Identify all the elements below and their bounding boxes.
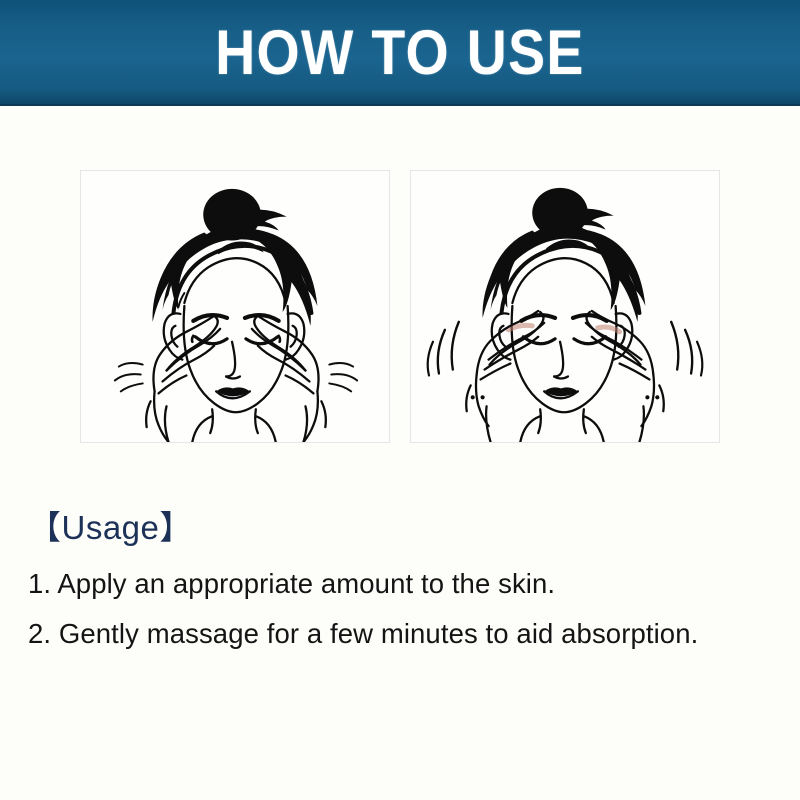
usage-step-2: 2. Gently massage for a few minutes to a…: [28, 620, 788, 648]
illustration-panel-group: [80, 170, 720, 443]
usage-step-list: 1. Apply an appropriate amount to the sk…: [28, 570, 788, 648]
usage-step-1: 1. Apply an appropriate amount to the sk…: [28, 570, 788, 598]
usage-heading: 【Usage】: [28, 508, 788, 548]
apply-step-illustration: [81, 171, 389, 442]
massage-step-illustration-panel: [410, 170, 720, 443]
massage-step-illustration: [411, 171, 719, 442]
header-banner: HOW TO USE: [0, 0, 800, 106]
how-to-use-page: HOW TO USE: [0, 0, 800, 800]
usage-section: 【Usage】 1. Apply an appropriate amount t…: [28, 508, 788, 671]
apply-step-illustration-panel: [80, 170, 390, 443]
page-title: HOW TO USE: [215, 22, 584, 85]
